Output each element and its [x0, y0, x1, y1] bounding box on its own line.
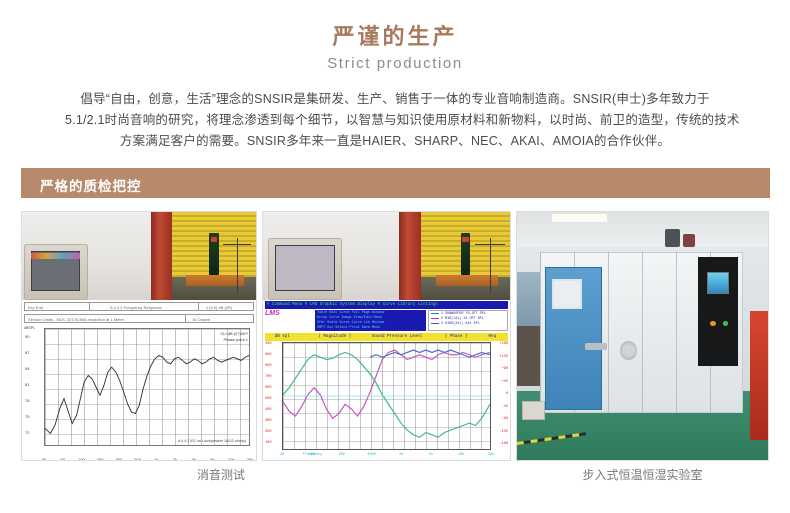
caption-chamber: 步入式恒温恒湿实验室 [516, 466, 769, 483]
fr-subheader-bar: Service Limits - MLS, 32176 dBA resoluti… [24, 314, 254, 323]
control-touchscreen[interactable] [707, 272, 730, 294]
lms-right-tick: 0 [506, 392, 508, 396]
roof-fan-1 [665, 229, 680, 246]
lms-left-tick: 900 [265, 353, 271, 357]
lms-menu-line[interactable]: SMPT Out Select Print Data Menu [317, 326, 424, 331]
lms-legend: 1 SUBWOOFER 70.2FT SPL2 MID(121) 34 OFF … [428, 310, 508, 331]
roof-fan-2 [683, 234, 696, 246]
lms-xtick: 200 [338, 451, 344, 459]
lms-xtick: 5k [429, 451, 433, 459]
microphone-arm [223, 244, 251, 245]
fr-footnote: A 4 4 2 IEC on Loudspeaker 1k/1/3 ohm(s) [178, 439, 246, 443]
lms-xtick: 2k [399, 451, 403, 459]
lms-curve-svg [283, 343, 490, 449]
intro-paragraph: 倡导“自由，创意，生活”理念的SNSIR是集研发、生产、销售于一体的专业音响制造… [65, 89, 725, 152]
lms-title-segment: Sound Pressure Level [372, 333, 422, 341]
section-banner-label: 严格的质检把控 [40, 175, 142, 195]
intro-line-3: 方案满足客户的需要。SNSIR多年来一直是HAIER、SHARP、NEC、AKA… [65, 131, 725, 152]
gallery-item-anechoic[interactable]: Esc End A 4 4 2 Frequency Response 1 (0.… [21, 211, 257, 461]
microphone-stand [237, 238, 238, 293]
fr-xtick: 500 [134, 457, 141, 460]
lms-left-tick: 800 [265, 364, 271, 368]
anechoic-room-photo [22, 212, 256, 300]
storage-basket [522, 401, 545, 421]
fr-annotation: CLI dB (2?)W/? Phase point 1 [220, 331, 248, 343]
chamber-porthole [620, 341, 638, 360]
lms-xtick: 10k [458, 451, 464, 459]
lms-legend-entry: 3 HIGH(221) 041 SPL [431, 322, 505, 327]
lms-right-tick: +180 [499, 342, 508, 346]
fr-header-left: Esc End [25, 303, 43, 311]
lms-menu-block[interactable]: Table Edit Curve Full Page WindowArray C… [315, 310, 426, 331]
wooden-table-2 [436, 275, 498, 286]
wooden-table [186, 275, 245, 286]
intro-line-1: 倡导“自由，创意，生活”理念的SNSIR是集研发、生产、销售于一体的专业音响制造… [65, 89, 725, 110]
lms-series-subwoofer-70-2ft-spl [283, 352, 490, 437]
lms-left-tick: 100 [265, 342, 271, 346]
fr-xtick: 200 [97, 457, 104, 460]
door-handle[interactable] [585, 343, 608, 349]
lms-title-segment: dB spl [275, 333, 290, 341]
lms-left-tick: 700 [265, 375, 271, 379]
fr-plot-area [44, 328, 250, 446]
lab-scene-2 [263, 212, 510, 300]
lms-logo: LMS [265, 310, 313, 318]
lms-x-axis: 2010020010002k5k10k20kFrequency [282, 451, 491, 459]
door-view-window [552, 279, 582, 309]
fr-xtick: 20k [247, 457, 253, 460]
lms-legend-swatch [431, 318, 439, 319]
fr-curve-svg [45, 329, 249, 445]
page-header: 严谨的生产 Strict production [0, 0, 790, 75]
lab-scene [22, 212, 256, 300]
lms-title-segment: Req [489, 333, 497, 341]
monitor-toolbar [31, 253, 80, 258]
lms-left-axis: 100900800700600500400300200100 [265, 342, 281, 450]
lms-plot: # Command Menu # LMS Graphic System Disp… [263, 300, 510, 460]
fr-ytick: 84 [25, 366, 29, 371]
lms-xtick: 20 [280, 451, 284, 459]
fr-xtick: 1k [154, 457, 158, 460]
lms-legend-swatch [431, 323, 439, 324]
lms-xtick: 1000 [367, 451, 376, 459]
fr-subheader-left: Service Limits - MLS, 32176 dBA resoluti… [25, 315, 124, 323]
fr-xtick: 20 [42, 457, 46, 460]
lms-right-tick: +90 [502, 367, 508, 371]
fr-ytick: 87 [25, 350, 29, 355]
speaker-led-2 [462, 237, 468, 242]
fr-subheader-right: 1k Octave [189, 315, 210, 323]
page-subtitle: Strict production [0, 53, 790, 75]
lms-xtick: 20k [488, 451, 494, 459]
lms-left-tick: 400 [265, 408, 271, 412]
red-door-frame-2 [399, 212, 421, 300]
frequency-response-plot: Esc End A 4 4 2 Frequency Response 1 (0.… [22, 300, 256, 460]
fr-header-bar: Esc End A 4 4 2 Frequency Response 1 (0.… [24, 302, 254, 311]
lms-left-tick: 200 [265, 430, 271, 434]
lms-plot-area [282, 342, 491, 450]
lms-left-tick: 100 [265, 441, 271, 445]
fr-ytick: 81 [25, 382, 29, 387]
microphone-arm-2 [475, 244, 505, 245]
product-page: 严谨的生产 Strict production 倡导“自由，创意，生活”理念的S… [0, 0, 790, 513]
lms-right-tick: -90 [502, 417, 508, 421]
gallery-item-chamber[interactable] [516, 211, 769, 461]
fr-xtick: 100 [78, 457, 85, 460]
person-in-red [750, 311, 768, 440]
lms-x-axis-label: Frequency [303, 451, 322, 459]
ceiling-light [552, 214, 607, 221]
lms-left-tick: 300 [265, 419, 271, 423]
intro-line-2: 5.1/2.1时尚音响的研究，将理念渗透到每个细节，以智慧与知识使用原材料和新物… [65, 110, 725, 131]
fr-xtick: 300 [116, 457, 123, 460]
lms-right-tick: +45 [502, 380, 508, 384]
fr-ytick: 78 [25, 398, 29, 403]
fr-y-axis-label: dBSPL [24, 326, 35, 330]
speaker-led [211, 237, 217, 242]
fr-header-right: 1 (0.0) dB (2R) [203, 303, 232, 311]
lms-title-segment: ( Magnitude ) [318, 333, 351, 341]
red-door-frame [151, 212, 172, 300]
fr-xtick: 5k [210, 457, 214, 460]
gallery-item-lms[interactable]: # Command Menu # LMS Graphic System Disp… [262, 211, 511, 461]
fr-xtick: 50 [60, 457, 64, 460]
lms-right-tick: -45 [502, 405, 508, 409]
lms-left-tick: 500 [265, 397, 271, 401]
gallery-captions: 消音测试 步入式恒温恒湿实验室 [21, 466, 770, 490]
lms-right-tick: -180 [499, 442, 508, 446]
fr-xtick: 2k [173, 457, 177, 460]
fr-ytick: 90 [25, 334, 29, 339]
fr-xtick: 10k [228, 457, 234, 460]
fr-ytick: 72 [25, 430, 29, 435]
lms-title-segment: ( Phase ) [445, 333, 468, 341]
chamber-photo [517, 212, 768, 460]
lms-left-tick: 600 [265, 386, 271, 390]
lms-workstation-photo [263, 212, 510, 300]
lms-right-tick: +135 [499, 355, 508, 359]
lms-right-axis: +180+135+90+450-45-90-135-180 [492, 342, 508, 450]
lms-series-mid-121-34-off-spl [283, 350, 490, 418]
section-banner: 严格的质检把控 [21, 168, 770, 198]
microphone-stand-2 [490, 238, 491, 293]
caption-anechoic: 消音测试 [161, 466, 281, 483]
lms-legend-swatch [431, 313, 439, 314]
image-gallery: Esc End A 4 4 2 Frequency Response 1 (0.… [21, 211, 770, 461]
control-button-orange[interactable] [710, 321, 716, 326]
lms-command-bar[interactable]: # Command Menu # LMS Graphic System Disp… [265, 301, 508, 309]
monitor-screen-2 [275, 245, 334, 291]
lms-title-bar: dB spl( Magnitude )Sound Pressure Level(… [265, 333, 508, 341]
fr-xtick: 3k [192, 457, 196, 460]
page-title: 严谨的生产 [0, 24, 790, 50]
fr-ytick: 75 [25, 414, 29, 419]
lms-right-tick: -135 [499, 430, 508, 434]
fr-header-title: A 4 4 2 Frequency Response [107, 303, 162, 311]
